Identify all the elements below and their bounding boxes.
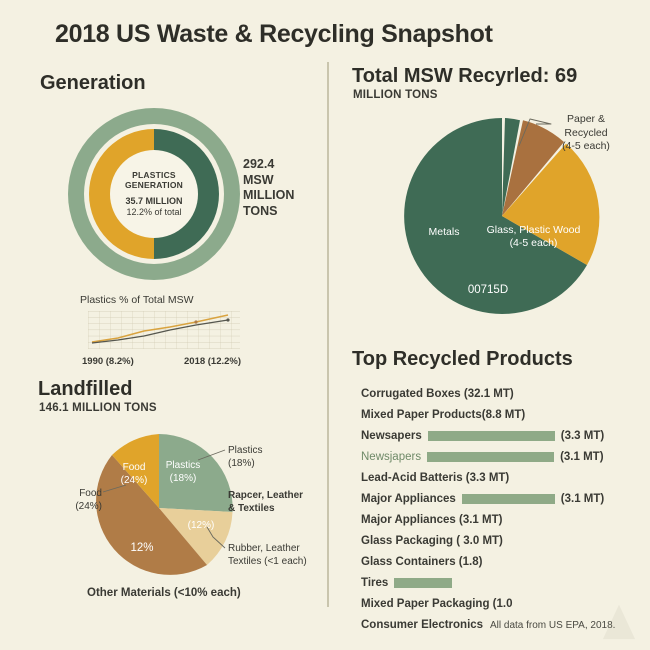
landfilled-pie-svg — [85, 434, 233, 582]
landfilled-inlabel-plastics-line1: Plastics — [152, 460, 214, 473]
list-item-value: (3.1 MT) — [561, 493, 604, 505]
list-item-label: Mixed Paper Packaging (1.0 — [361, 598, 512, 610]
msw-label-paper-line1: Paper & — [541, 113, 631, 127]
list-item-label: Corrugated Boxes (32.1 MT) — [361, 388, 514, 400]
msw-heading: Total MSW Recyrled: 69 — [352, 65, 577, 88]
list-item-label: Mixed Paper Products — [361, 409, 482, 421]
list-item-label: Tires — [361, 577, 388, 589]
watermark-icon — [596, 600, 642, 646]
msw-label-metals: Metals — [414, 226, 474, 239]
list-item: Major Appliances (3.1 MT) — [361, 509, 626, 530]
landfilled-outlabel-rapcer-line1: Rapcer, Leather — [228, 489, 303, 502]
linechart-title: Plastics % of Total MSW — [80, 294, 194, 306]
list-item: Corrugated Boxes (32.1 MT) — [361, 383, 626, 404]
top-recycled-list: Corrugated Boxes (32.1 MT)Mixed Paper Pr… — [361, 383, 626, 635]
landfilled-subheading: 146.1 MILLION TONS — [39, 402, 157, 414]
list-item-bar — [427, 452, 554, 462]
landfilled-outlabel-rubber-line2: Textiles (<1 each) — [228, 555, 307, 568]
msw-subheading: MILLION TONS — [353, 89, 438, 101]
msw-label-glass-line1: Glass, Plastic Wood — [476, 224, 591, 237]
plastics-trend-linechart — [88, 311, 240, 349]
donut-side-line2: MSW — [243, 173, 294, 189]
list-item-label: Glass Packaging ( 3.0 MT) — [361, 535, 503, 547]
donut-center-line1: PLASTICS — [132, 170, 176, 181]
landfilled-outlabel-plastics-line1: Plastics — [228, 444, 262, 457]
top-recycled-heading: Top Recycled Products — [352, 348, 573, 371]
list-item-label: Lead-Acid Batteris (3.3 MT) — [361, 472, 509, 484]
landfilled-outlabel-food: Food (24%) — [38, 487, 102, 513]
list-item: Tires — [361, 572, 626, 593]
donut-center-label: PLASTICS GENERATION 35.7 MILLION 12.2% o… — [110, 150, 198, 238]
list-item: Mixed Paper Products(8.8 MT) — [361, 404, 626, 425]
list-item-label: Newsapers — [361, 430, 422, 442]
landfilled-outlabel-rapcer: Rapcer, Leather & Textiles — [228, 489, 303, 515]
page-title: 2018 US Waste & Recycling Snapshot — [55, 20, 493, 49]
list-item: Major Appliances(3.1 MT) — [361, 488, 626, 509]
linechart-xtick-left: 1990 (8.2%) — [82, 356, 134, 367]
msw-label-paper-line3: (4-5 each) — [541, 140, 631, 154]
list-item-bar — [394, 578, 452, 588]
landfilled-inlabel-twelve: 12% — [122, 541, 162, 555]
donut-side-line3: MILLION — [243, 188, 294, 204]
infographic-root: 2018 US Waste & Recycling Snapshot Gener… — [0, 0, 650, 650]
list-item-label: Consumer Electronics — [361, 619, 483, 631]
linechart-marker-end — [226, 318, 229, 321]
landfilled-outlabel-plastics-line2: (18%) — [228, 457, 262, 470]
landfilled-outlabel-rubber-line1: Rubber, Leather — [228, 542, 307, 555]
landfilled-inlabel-plastics-line2: (18%) — [152, 473, 214, 486]
list-item-value: (3.1 MT) — [560, 451, 603, 463]
msw-label-code: 00715D — [455, 283, 521, 297]
list-item: Glass Packaging ( 3.0 MT) — [361, 530, 626, 551]
linechart-xtick-right: 2018 (12.2%) — [184, 356, 241, 367]
msw-label-paper-line2: Recycled — [541, 127, 631, 141]
donut-center-line3: 35.7 MILLION — [125, 196, 182, 207]
msw-label-glass-line2: (4-5 each) — [476, 237, 591, 250]
linechart-marker — [194, 320, 197, 323]
list-item-value: (8.8 MT) — [482, 409, 525, 421]
landfilled-heading: Landfilled — [38, 378, 132, 401]
msw-label-glass: Glass, Plastic Wood (4-5 each) — [476, 224, 591, 250]
list-item-bar — [462, 494, 555, 504]
landfilled-outlabel-plastics: Plastics (18%) — [228, 444, 262, 470]
list-item: Lead-Acid Batteris (3.3 MT) — [361, 467, 626, 488]
list-item: Glass Containers (1.8) — [361, 551, 626, 572]
generation-donut-chart: PLASTICS GENERATION 35.7 MILLION 12.2% o… — [68, 108, 240, 280]
landfilled-outlabel-rubber: Rubber, Leather Textiles (<1 each) — [228, 542, 307, 568]
landfilled-outlabel-food-line2: (24%) — [38, 500, 102, 513]
list-item-bar — [428, 431, 555, 441]
landfilled-outlabel-rapcer-line2: & Textiles — [228, 502, 303, 515]
list-item: Newsapers(3.3 MT) — [361, 425, 626, 446]
landfilled-inlabel-plastics: Plastics (18%) — [152, 460, 214, 485]
donut-side-label: 292.4 MSW MILLION TONS — [243, 157, 294, 220]
donut-side-line4: TONS — [243, 204, 294, 220]
landfilled-outlabel-food-line1: Food — [38, 487, 102, 500]
list-item-value: (3.3 MT) — [561, 430, 604, 442]
list-item: Newsjapers(3.1 MT) — [361, 446, 626, 467]
vertical-divider — [327, 62, 329, 607]
generation-heading: Generation — [40, 72, 146, 95]
msw-label-paper: Paper & Recycled (4-5 each) — [541, 113, 631, 154]
list-item-label: Major Appliances — [361, 493, 456, 505]
linechart-svg — [88, 311, 240, 349]
list-item-label: Major Appliances (3.1 MT) — [361, 514, 502, 526]
landfilled-pie-chart — [85, 434, 233, 582]
landfilled-outlabel-other: Other Materials (<10% each) — [87, 586, 241, 601]
donut-center-line2: GENERATION — [125, 180, 183, 191]
donut-side-line1: 292.4 — [243, 157, 294, 173]
list-item-label: Newsjapers — [361, 451, 421, 463]
list-item-label: Glass Containers (1.8) — [361, 556, 482, 568]
list-item: Mixed Paper Packaging (1.0 — [361, 593, 626, 614]
landfilled-inlabel-twelve-pct: (12%) — [176, 520, 226, 533]
donut-center-line4: 12.2% of total — [126, 207, 181, 218]
